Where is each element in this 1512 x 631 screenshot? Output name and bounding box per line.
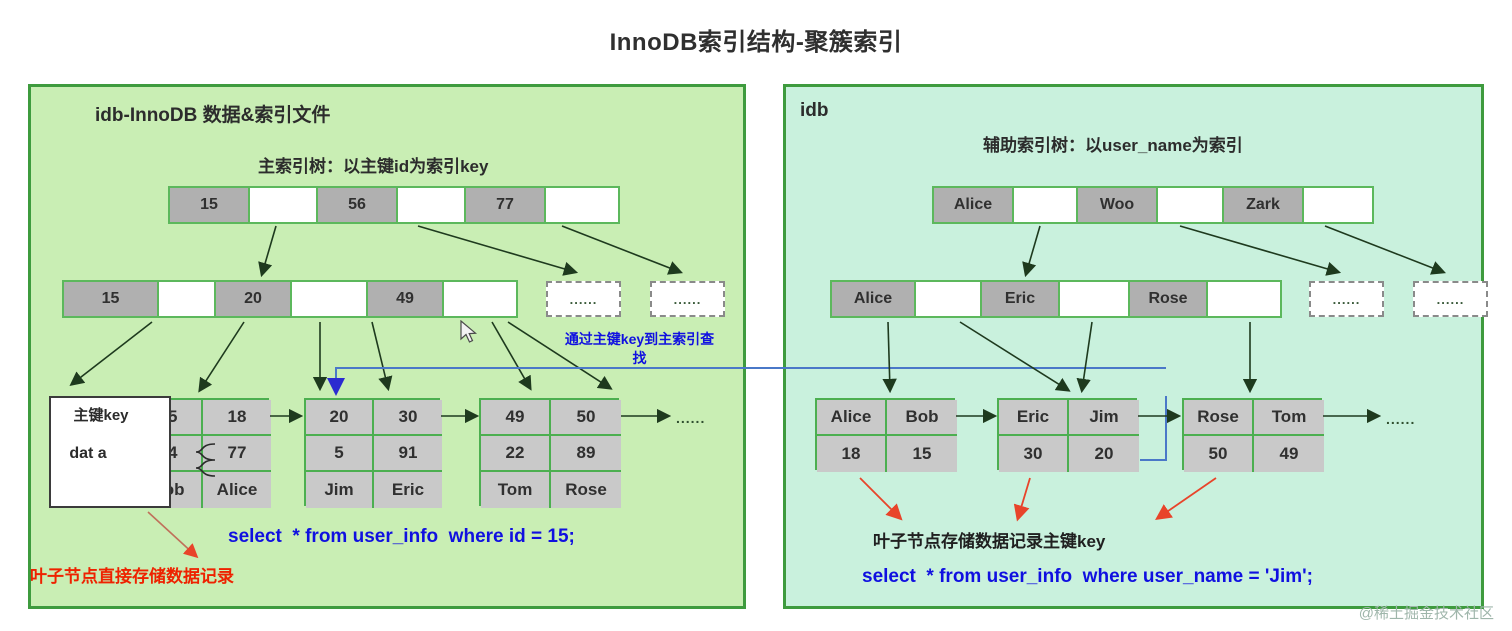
mouse-cursor bbox=[459, 320, 479, 346]
leaf-cell: 18 bbox=[817, 436, 887, 472]
secondary-level2-node: Alice Eric Rose bbox=[830, 280, 1282, 318]
leaf-cell: 20 bbox=[306, 400, 374, 436]
sec-l2-ptr-1 bbox=[1060, 282, 1130, 316]
secondary-leaf-3: Rose Tom 50 49 bbox=[1182, 398, 1322, 470]
leaf-cell: Tom bbox=[1254, 400, 1324, 436]
leaf-cell: 30 bbox=[374, 400, 442, 436]
page-title: InnoDB索引结构-聚簇索引 bbox=[0, 22, 1512, 57]
root-ptr-2 bbox=[546, 188, 618, 222]
l2-key-1: 20 bbox=[216, 282, 292, 316]
leaf-cell: 15 bbox=[887, 436, 957, 472]
secondary-level2-ellipsis-1: ...... bbox=[1309, 281, 1384, 317]
sec-l2-key-0: Alice bbox=[832, 282, 916, 316]
leaf-cell: Alice bbox=[817, 400, 887, 436]
legend-data-label: dat a bbox=[55, 444, 121, 464]
primary-leaf-2: 20 30 5 91 Jim Eric bbox=[304, 398, 440, 506]
leaf-cell: 50 bbox=[1184, 436, 1254, 472]
watermark: @稀土掘金技术社区 bbox=[1359, 602, 1494, 623]
l2-key-0: 15 bbox=[64, 282, 159, 316]
secondary-leaf-tail-dots: ...... bbox=[1386, 411, 1415, 427]
primary-sql-annotation: select * from user_info where id = 15; bbox=[228, 526, 575, 548]
leaf-cell: 49 bbox=[481, 400, 551, 436]
lookup-note-annotation: 通过主键key到主索引查 找 bbox=[537, 330, 742, 368]
leaf-cell: 30 bbox=[999, 436, 1069, 472]
leaf-stores-record-annotation: 叶子节点直接存储数据记录 bbox=[30, 562, 234, 587]
primary-leaf-3: 49 50 22 89 Tom Rose bbox=[479, 398, 619, 506]
leaf-cell: Bob bbox=[887, 400, 957, 436]
right-tree-caption: 辅助索引树：以user_name为索引 bbox=[983, 131, 1243, 156]
secondary-leaf-note-annotation: 叶子节点存储数据记录主键key bbox=[873, 527, 1105, 552]
sec-root-ptr-0 bbox=[1014, 188, 1078, 222]
leaf-cell: Rose bbox=[1184, 400, 1254, 436]
secondary-leaf-1: Alice Bob 18 15 bbox=[815, 398, 955, 470]
primary-level2-node: 15 20 49 bbox=[62, 280, 518, 318]
leaf-cell: Rose bbox=[551, 472, 621, 508]
ellipsis-dots: ...... bbox=[1333, 292, 1361, 307]
root-key-1: 56 bbox=[318, 188, 398, 222]
leaf-cell: Tom bbox=[481, 472, 551, 508]
root-key-0: 15 bbox=[170, 188, 250, 222]
sec-root-ptr-2 bbox=[1304, 188, 1372, 222]
secondary-leaf-2: Eric Jim 30 20 bbox=[997, 398, 1137, 470]
l2-key-2: 49 bbox=[368, 282, 444, 316]
leaf-cell: Alice bbox=[203, 472, 271, 508]
diagram-canvas: InnoDB索引结构-聚簇索引 idb-InnoDB 数据&索引文件 主索引树：… bbox=[0, 0, 1512, 631]
sec-l2-ptr-2 bbox=[1208, 282, 1280, 316]
leaf-cell: 77 bbox=[203, 436, 271, 472]
leaf-cell: 22 bbox=[481, 436, 551, 472]
secondary-sql-annotation: select * from user_info where user_name … bbox=[862, 566, 1313, 588]
leaf-cell: 18 bbox=[203, 400, 271, 436]
leaf-cell: 20 bbox=[1069, 436, 1139, 472]
root-ptr-0 bbox=[250, 188, 318, 222]
left-tree-caption: 主索引树：以主键id为索引key bbox=[258, 152, 488, 177]
sec-l2-key-2: Rose bbox=[1130, 282, 1208, 316]
right-panel-title: idb bbox=[800, 100, 829, 122]
l2-ptr-1 bbox=[292, 282, 368, 316]
ellipsis-dots: ...... bbox=[570, 292, 598, 307]
l2-ptr-2 bbox=[444, 282, 516, 316]
primary-leaf-tail-dots: ...... bbox=[676, 410, 705, 426]
root-ptr-1 bbox=[398, 188, 466, 222]
leaf-cell: 50 bbox=[551, 400, 621, 436]
leaf-cell: 89 bbox=[551, 436, 621, 472]
leaf-cell: 91 bbox=[374, 436, 442, 472]
sec-root-key-0: Alice bbox=[934, 188, 1014, 222]
ellipsis-dots: ...... bbox=[1437, 292, 1465, 307]
primary-root-node: 15 56 77 bbox=[168, 186, 620, 224]
ellipsis-dots: ...... bbox=[674, 292, 702, 307]
leaf-cell: 49 bbox=[1254, 436, 1324, 472]
l2-ptr-0 bbox=[159, 282, 216, 316]
primary-level2-ellipsis-2: ...... bbox=[650, 281, 725, 317]
primary-level2-ellipsis-1: ...... bbox=[546, 281, 621, 317]
leaf-cell: 5 bbox=[306, 436, 374, 472]
leaf-cell: Eric bbox=[374, 472, 442, 508]
leaf-cell: Jim bbox=[306, 472, 374, 508]
leaf-cell: Jim bbox=[1069, 400, 1139, 436]
secondary-level2-ellipsis-2: ...... bbox=[1413, 281, 1488, 317]
left-panel-title: idb-InnoDB 数据&索引文件 bbox=[95, 100, 330, 127]
sec-root-key-1: Woo bbox=[1078, 188, 1158, 222]
sec-root-key-2: Zark bbox=[1224, 188, 1304, 222]
sec-l2-ptr-0 bbox=[916, 282, 982, 316]
legend-primary-key-label: 主键key bbox=[57, 404, 145, 425]
root-key-2: 77 bbox=[466, 188, 546, 222]
sec-root-ptr-1 bbox=[1158, 188, 1224, 222]
secondary-root-node: Alice Woo Zark bbox=[932, 186, 1374, 224]
leaf-cell: Eric bbox=[999, 400, 1069, 436]
sec-l2-key-1: Eric bbox=[982, 282, 1060, 316]
